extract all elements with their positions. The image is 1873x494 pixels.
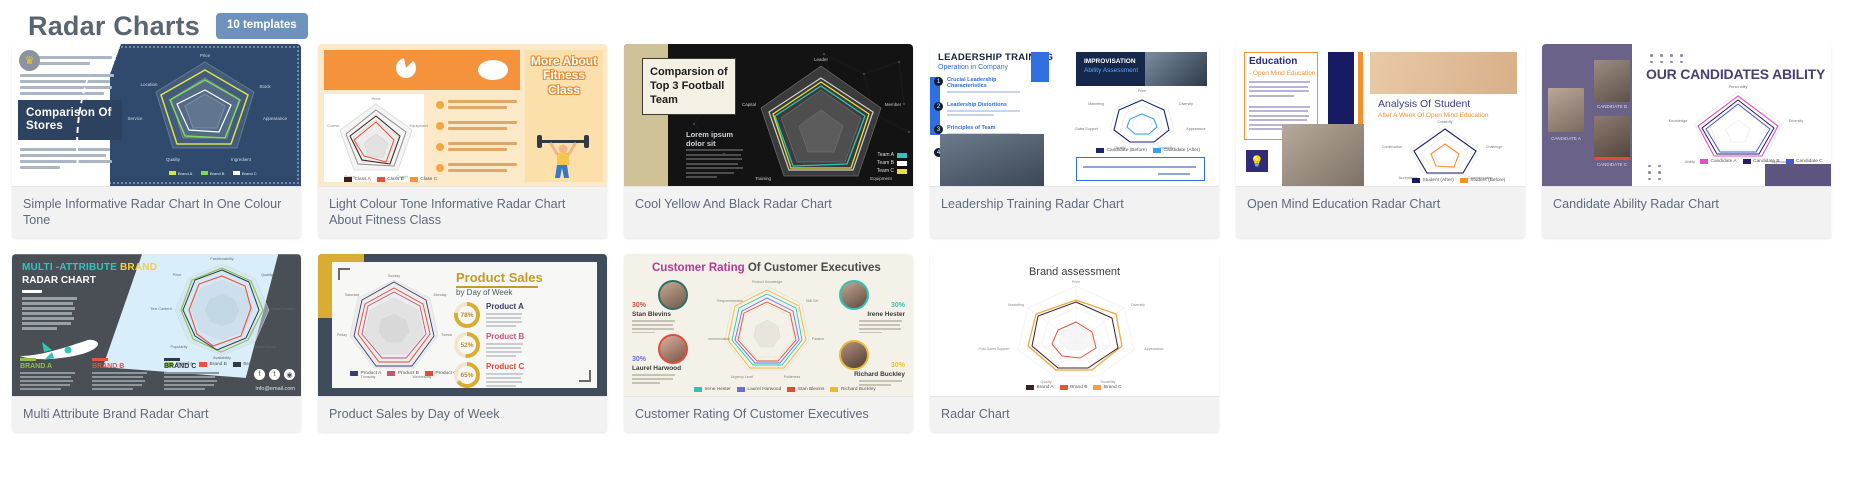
card-label: Radar Chart bbox=[930, 397, 1219, 432]
product-body-c: Product C bbox=[486, 362, 524, 389]
svg-text:Price: Price bbox=[173, 273, 182, 277]
chart-legend-8: Product A Product B Product C bbox=[350, 371, 457, 376]
chart-legend-10: Brand A Brand B Brand C bbox=[1026, 385, 1122, 390]
email-text: info@email.com bbox=[255, 386, 295, 392]
chart-legend-2: Class A Class B Class C bbox=[344, 177, 437, 182]
person-pct-irene: 30% bbox=[891, 302, 905, 309]
quote-author bbox=[1158, 173, 1190, 175]
thumb-body-text bbox=[22, 297, 80, 332]
candidate-label-c: CANDIDATE C bbox=[1590, 162, 1634, 167]
svg-text:Urgency Level: Urgency Level bbox=[731, 375, 754, 379]
template-card-customer-rating[interactable]: Customer Rating Of Customer Executives 3… bbox=[624, 254, 913, 432]
svg-text:Price: Price bbox=[371, 96, 381, 101]
quote-box bbox=[1076, 157, 1205, 181]
thumb-subtitle: by Day of Week bbox=[456, 288, 512, 297]
template-row-1: ♛ Comparison Of Stores bbox=[12, 44, 1873, 238]
dot-grid-bottom bbox=[1648, 165, 1664, 181]
svg-text:Saturday: Saturday bbox=[345, 293, 360, 297]
svg-text:Responsiveness: Responsiveness bbox=[717, 299, 743, 303]
thumbnail-multi-attribute-brand[interactable]: MULTI -ATTRIBUTE BRAND RADAR CHART bbox=[12, 254, 301, 397]
decorative-blue-box bbox=[1031, 52, 1049, 82]
template-card-leadership-training[interactable]: LEADERSHIP TRAINING Operation in Company… bbox=[930, 44, 1219, 238]
chart-legend-9: Irene Hester Laurel Harwood Stan Blevins… bbox=[694, 387, 876, 392]
lightbulb-icon: 💡 bbox=[1246, 150, 1268, 172]
person-name-stan: Stan Blevins bbox=[632, 311, 671, 318]
panel-title: Analysis Of Student bbox=[1378, 98, 1470, 110]
svg-text:Equipment: Equipment bbox=[409, 123, 428, 128]
title-part-1: Customer Rating bbox=[652, 262, 745, 274]
thumbnail-open-mind-education[interactable]: Education - Open Mind Education 💡 Analys… bbox=[1236, 44, 1525, 187]
svg-text:Durability: Durability bbox=[1101, 380, 1116, 384]
svg-text:Training: Training bbox=[755, 176, 772, 181]
svg-text:Skill Set: Skill Set bbox=[806, 299, 819, 303]
thumb-subtitle: - Open Mind Education bbox=[1249, 70, 1315, 77]
thumbnail-leadership-training[interactable]: LEADERSHIP TRAINING Operation in Company… bbox=[930, 44, 1219, 187]
donut-b: 52% bbox=[454, 332, 480, 358]
panel-subtitle: After A Week Of Open Mind Education bbox=[1378, 112, 1488, 119]
brand-name: BRAND B bbox=[92, 363, 150, 370]
svg-text:Social Media: Social Media bbox=[254, 345, 277, 349]
thumbnail-candidate-ability[interactable]: CANDIDATE A CANDIDATE B CANDIDATE C OUR … bbox=[1542, 44, 1831, 187]
person-avatar-richard bbox=[839, 340, 869, 370]
radar-chart-2: PriceEquipment CoachFocusCourse bbox=[324, 94, 428, 182]
social-icons[interactable]: f t ◉ bbox=[254, 369, 295, 380]
svg-text:Sunday: Sunday bbox=[388, 274, 400, 278]
candidate-label-b: CANDIDATE B bbox=[1590, 104, 1634, 109]
thumb-title-line2: RADAR CHART bbox=[22, 275, 96, 286]
svg-text:Diversity: Diversity bbox=[1179, 102, 1193, 106]
template-gallery-page: Radar Charts 10 templates ♛ Comparison O… bbox=[0, 0, 1873, 494]
template-row-2: MULTI -ATTRIBUTE BRAND RADAR CHART bbox=[12, 254, 1873, 432]
thumbnail-customer-rating[interactable]: Customer Rating Of Customer Executives 3… bbox=[624, 254, 913, 397]
person-pct-richard: 30% bbox=[891, 362, 905, 369]
svg-text:Personality: Personality bbox=[1729, 85, 1748, 89]
title-part-2: Of Customer Executives bbox=[748, 262, 881, 274]
title-rule bbox=[22, 290, 42, 293]
person-name-laurel: Laurel Harwood bbox=[632, 365, 681, 372]
product-row-b: 52% Product B bbox=[454, 332, 600, 359]
brand-name: BRAND C bbox=[164, 363, 222, 370]
svg-text:Visual Content: Visual Content bbox=[271, 307, 297, 311]
brand-name: BRAND A bbox=[20, 363, 78, 370]
svg-text:Capital: Capital bbox=[742, 102, 756, 107]
svg-text:Challenge: Challenge bbox=[1486, 145, 1502, 149]
svg-text:Popularity: Popularity bbox=[171, 345, 188, 349]
svg-text:Ability: Ability bbox=[1685, 160, 1695, 164]
person-avatar-laurel bbox=[658, 334, 688, 364]
donut-value-c: 65% bbox=[458, 366, 476, 384]
candidate-photo-b bbox=[1594, 60, 1630, 102]
person-pct-stan: 30% bbox=[632, 302, 646, 309]
person-pct-laurel: 30% bbox=[632, 356, 646, 363]
dot-grid-top bbox=[1650, 54, 1686, 63]
candidate-photo-a bbox=[1548, 88, 1584, 132]
svg-text:Fashionability: Fashionability bbox=[210, 257, 233, 261]
template-card-multi-attribute-brand[interactable]: MULTI -ATTRIBUTE BRAND RADAR CHART bbox=[12, 254, 301, 432]
thumb-title: Product Sales bbox=[456, 270, 543, 285]
quote-text bbox=[1083, 166, 1196, 168]
twitter-icon[interactable]: t bbox=[269, 369, 280, 380]
svg-text:Member: Member bbox=[885, 102, 902, 107]
candidate-accent-bar bbox=[1594, 157, 1630, 160]
product-row-a: 78% Product A bbox=[454, 302, 600, 329]
person-name-irene: Irene Hester bbox=[867, 311, 905, 318]
instagram-icon[interactable]: ◉ bbox=[284, 369, 295, 380]
svg-text:Politeness: Politeness bbox=[784, 375, 800, 379]
radar-chart-4: PriceDiversityAppearance DurabilityQuali… bbox=[1070, 88, 1214, 150]
thumb-title: Customer Rating Of Customer Executives bbox=[652, 262, 881, 274]
product-name-a: Product A bbox=[486, 302, 524, 311]
svg-text:Diversity: Diversity bbox=[1131, 303, 1145, 307]
thumb-title: More About Fitness Class bbox=[527, 54, 601, 97]
donut-a: 78% bbox=[454, 302, 480, 328]
crown-icon: ♛ bbox=[19, 50, 40, 71]
brand-item-c: BRAND C bbox=[164, 358, 222, 392]
candidate-label-a: CANDIDATE A bbox=[1544, 136, 1588, 141]
radar-chart-6: PersonalityDiversity AppearanceAbilityKn… bbox=[1660, 84, 1816, 164]
candidate-photo-c bbox=[1594, 116, 1630, 160]
svg-text:Creativity: Creativity bbox=[1438, 120, 1453, 124]
donut-value-a: 78% bbox=[458, 306, 476, 324]
card-label: Customer Rating Of Customer Executives bbox=[624, 397, 913, 432]
template-grid: ♛ Comparison Of Stores bbox=[0, 44, 1873, 432]
svg-text:Leader: Leader bbox=[814, 57, 829, 62]
template-card-cool-yellow-black[interactable]: Comparsion of Top 3 Football Team Lorem … bbox=[624, 44, 913, 238]
title-part-1: MULTI -ATTRIBUTE bbox=[22, 262, 117, 273]
thumb-bullet-list bbox=[436, 100, 520, 184]
svg-text:Quality: Quality bbox=[1040, 380, 1051, 384]
svg-text:Equipment: Equipment bbox=[870, 176, 892, 181]
radar-chart-8: SundayMondayTuesday WednesdayThursday Fr… bbox=[336, 272, 452, 384]
svg-text:Quality: Quality bbox=[261, 273, 273, 277]
product-body-a: Product A bbox=[486, 302, 524, 329]
svg-text:Friday: Friday bbox=[337, 333, 347, 337]
svg-text:Appearance: Appearance bbox=[1144, 347, 1163, 351]
panel-subtitle: Ability Assessment bbox=[1084, 67, 1138, 74]
brand-list: BRAND A BRAND B BRAND C bbox=[20, 358, 222, 392]
chart-legend-3: Team A Team B Team C bbox=[877, 152, 907, 176]
card-label: Simple Informative Radar Chart In One Co… bbox=[12, 187, 301, 238]
person-body-laurel bbox=[632, 374, 678, 385]
svg-text:Tuesday: Tuesday bbox=[441, 333, 452, 337]
svg-text:Price: Price bbox=[1072, 280, 1080, 284]
svg-text:Appearance: Appearance bbox=[1186, 127, 1205, 131]
thumbnail-football-team[interactable]: Comparsion of Top 3 Football Team Lorem … bbox=[624, 44, 913, 187]
chart-legend-4: Candidate (Before) Candidate (After) bbox=[1096, 148, 1200, 153]
donut-value-b: 52% bbox=[458, 336, 476, 354]
template-card-radar-chart[interactable]: Brand assessment PriceDiversity bbox=[930, 254, 1219, 432]
radar-chart-7: FashionabilityQuality Visual ContentSoci… bbox=[147, 256, 297, 360]
radar-chart-9: Product KnowledgeSkill Set PassionPolite… bbox=[708, 278, 826, 382]
svg-text:Passion: Passion bbox=[812, 337, 825, 341]
weightlifter-illustration bbox=[535, 122, 591, 180]
grid-empty-slot bbox=[1542, 254, 1831, 432]
thumbnail-product-sales[interactable]: SundayMondayTuesday WednesdayThursday Fr… bbox=[318, 254, 607, 397]
radar-chart-5: CreativityChallenge CommunicationAccepta… bbox=[1370, 120, 1520, 180]
product-name-c: Product C bbox=[486, 362, 524, 371]
svg-text:Marketing: Marketing bbox=[1008, 303, 1024, 307]
radar-chart-10: PriceDiversity AppearanceDurability Qual… bbox=[976, 280, 1176, 384]
svg-text:Diversity: Diversity bbox=[1789, 119, 1804, 123]
thumbnail-fitness-class[interactable]: More About Fitness Class PriceEquipment bbox=[318, 44, 607, 187]
decorative-dotted-border bbox=[14, 46, 299, 184]
person-body-irene bbox=[859, 320, 905, 335]
svg-text:Marketing: Marketing bbox=[1088, 102, 1104, 106]
pencils-photo bbox=[1370, 52, 1517, 94]
card-label: Multi Attribute Brand Radar Chart bbox=[12, 397, 301, 432]
product-name-b: Product B bbox=[486, 332, 524, 341]
thumbnail-brand-assessment[interactable]: Brand assessment PriceDiversity bbox=[930, 254, 1219, 397]
card-label: Leadership Training Radar Chart bbox=[930, 187, 1219, 222]
template-count-badge: 10 templates bbox=[216, 13, 308, 40]
donut-c: 65% bbox=[454, 362, 480, 388]
speech-bubble-icon bbox=[478, 60, 508, 80]
speaker-photo bbox=[1145, 52, 1207, 86]
svg-text:Product Knowledge: Product Knowledge bbox=[752, 280, 782, 284]
svg-text:Communication: Communication bbox=[708, 337, 730, 341]
template-card-simple-informative[interactable]: ♛ Comparison Of Stores bbox=[12, 44, 301, 238]
thumb-title: OUR CANDIDATES ABILITY bbox=[1646, 66, 1825, 82]
person-avatar-irene bbox=[839, 280, 869, 310]
thumb-title-line1: MULTI -ATTRIBUTE BRAND bbox=[22, 262, 157, 273]
svg-text:Construction: Construction bbox=[1382, 145, 1402, 149]
card-label: Light Colour Tone Informative Radar Char… bbox=[318, 187, 607, 238]
svg-text:Course: Course bbox=[327, 123, 341, 128]
template-card-product-sales[interactable]: SundayMondayTuesday WednesdayThursday Fr… bbox=[318, 254, 607, 432]
svg-text:Price: Price bbox=[1138, 89, 1146, 93]
child-blocks-photo bbox=[1282, 124, 1364, 186]
thumbnail-comparison-of-stores[interactable]: ♛ Comparison Of Stores bbox=[12, 44, 301, 187]
svg-text:Monday: Monday bbox=[434, 293, 447, 297]
thumb-subtitle: Operation in Company bbox=[938, 64, 1008, 71]
product-row-c: 65% Product C bbox=[454, 362, 600, 389]
grid-empty-slot bbox=[1236, 254, 1525, 432]
card-label: Cool Yellow And Black Radar Chart bbox=[624, 187, 913, 222]
brand-item-b: BRAND B bbox=[92, 358, 150, 392]
card-label: Candidate Ability Radar Chart bbox=[1542, 187, 1831, 222]
svg-text:Text Content: Text Content bbox=[150, 307, 172, 311]
page-title: Radar Charts bbox=[28, 13, 200, 40]
person-body-stan bbox=[632, 320, 678, 335]
template-card-open-mind-education[interactable]: Education - Open Mind Education 💡 Analys… bbox=[1236, 44, 1525, 238]
audience-photo bbox=[940, 134, 1044, 186]
template-card-candidate-ability[interactable]: CANDIDATE A CANDIDATE B CANDIDATE C OUR … bbox=[1542, 44, 1831, 238]
card-label: Product Sales by Day of Week bbox=[318, 397, 607, 432]
svg-text:Knowledge: Knowledge bbox=[1669, 119, 1688, 123]
panel-title: IMPROVISATION bbox=[1084, 58, 1136, 65]
chart-legend-5: Student (After) Student (Before) bbox=[1412, 178, 1505, 183]
person-avatar-stan bbox=[658, 280, 688, 310]
decorative-plum-block bbox=[1765, 164, 1831, 186]
product-body-b: Product B bbox=[486, 332, 524, 359]
person-name-richard: Richard Buckley bbox=[854, 371, 905, 378]
svg-text:Post-Sales Support: Post-Sales Support bbox=[979, 347, 1010, 351]
card-label: Open Mind Education Radar Chart bbox=[1236, 187, 1525, 222]
page-header: Radar Charts 10 templates bbox=[0, 0, 1873, 44]
thumb-title: Education bbox=[1249, 56, 1297, 67]
brand-item-a: BRAND A bbox=[20, 358, 78, 392]
thumb-title: Comparsion of Top 3 Football Team bbox=[642, 58, 736, 115]
template-card-light-colour-fitness[interactable]: More About Fitness Class PriceEquipment bbox=[318, 44, 607, 238]
facebook-icon[interactable]: f bbox=[254, 369, 265, 380]
svg-text:-Sales Support: -Sales Support bbox=[1074, 127, 1098, 131]
thumb-title: Brand assessment bbox=[930, 266, 1219, 278]
